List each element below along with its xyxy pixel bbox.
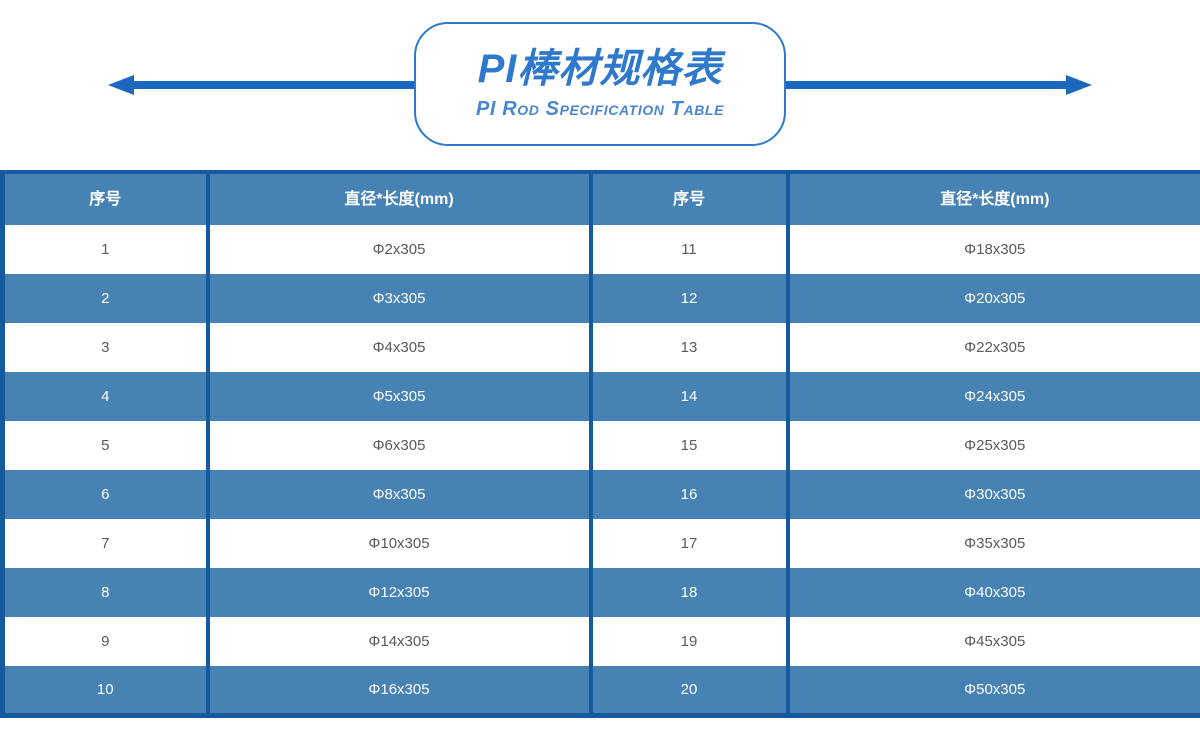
cell-no-right: 14 bbox=[591, 372, 788, 421]
table-row: 4Φ5x30514Φ24x305 bbox=[3, 372, 1200, 421]
cell-spec-left: Φ8x305 bbox=[208, 470, 591, 519]
table-row: 3Φ4x30513Φ22x305 bbox=[3, 323, 1200, 372]
cell-spec-right: Φ50x305 bbox=[788, 666, 1200, 715]
cell-spec-right: Φ35x305 bbox=[788, 519, 1200, 568]
column-header-no-right: 序号 bbox=[591, 172, 788, 225]
table-row: 1Φ2x30511Φ18x305 bbox=[3, 225, 1200, 274]
cell-no-left: 1 bbox=[3, 225, 208, 274]
spec-sheet-page: PI棒材规格表 PI Rod Specification Table 序号 直径… bbox=[0, 0, 1200, 737]
cell-spec-right: Φ30x305 bbox=[788, 470, 1200, 519]
table-row: 8Φ12x30518Φ40x305 bbox=[3, 568, 1200, 617]
table-header-row: 序号 直径*长度(mm) 序号 直径*长度(mm) bbox=[3, 172, 1200, 225]
arrow-right-icon bbox=[784, 75, 1092, 95]
column-header-spec-left: 直径*长度(mm) bbox=[208, 172, 591, 225]
table-row: 6Φ8x30516Φ30x305 bbox=[3, 470, 1200, 519]
cell-spec-left: Φ3x305 bbox=[208, 274, 591, 323]
cell-no-left: 9 bbox=[3, 617, 208, 666]
cell-spec-right: Φ18x305 bbox=[788, 225, 1200, 274]
cell-no-right: 17 bbox=[591, 519, 788, 568]
table-row: 7Φ10x30517Φ35x305 bbox=[3, 519, 1200, 568]
cell-spec-left: Φ16x305 bbox=[208, 666, 591, 715]
cell-spec-left: Φ12x305 bbox=[208, 568, 591, 617]
cell-no-right: 15 bbox=[591, 421, 788, 470]
table-row: 5Φ6x30515Φ25x305 bbox=[3, 421, 1200, 470]
cell-no-left: 10 bbox=[3, 666, 208, 715]
cell-spec-left: Φ2x305 bbox=[208, 225, 591, 274]
cell-spec-right: Φ24x305 bbox=[788, 372, 1200, 421]
table-row: 9Φ14x30519Φ45x305 bbox=[3, 617, 1200, 666]
cell-no-left: 8 bbox=[3, 568, 208, 617]
cell-spec-right: Φ45x305 bbox=[788, 617, 1200, 666]
arrow-left-icon bbox=[108, 75, 416, 95]
cell-spec-right: Φ22x305 bbox=[788, 323, 1200, 372]
cell-spec-left: Φ6x305 bbox=[208, 421, 591, 470]
cell-spec-right: Φ40x305 bbox=[788, 568, 1200, 617]
cell-no-left: 2 bbox=[3, 274, 208, 323]
header-zone: PI棒材规格表 PI Rod Specification Table bbox=[0, 0, 1200, 168]
cell-no-left: 7 bbox=[3, 519, 208, 568]
cell-no-right: 19 bbox=[591, 617, 788, 666]
table-row: 10Φ16x30520Φ50x305 bbox=[3, 666, 1200, 715]
column-header-no-left: 序号 bbox=[3, 172, 208, 225]
cell-no-left: 3 bbox=[3, 323, 208, 372]
cell-spec-right: Φ25x305 bbox=[788, 421, 1200, 470]
page-title: PI棒材规格表 bbox=[478, 47, 723, 92]
cell-spec-left: Φ5x305 bbox=[208, 372, 591, 421]
cell-no-right: 11 bbox=[591, 225, 788, 274]
cell-spec-left: Φ14x305 bbox=[208, 617, 591, 666]
table-row: 2Φ3x30512Φ20x305 bbox=[3, 274, 1200, 323]
cell-spec-left: Φ4x305 bbox=[208, 323, 591, 372]
title-banner: PI棒材规格表 PI Rod Specification Table bbox=[414, 22, 786, 146]
table-body: 1Φ2x30511Φ18x3052Φ3x30512Φ20x3053Φ4x3051… bbox=[3, 225, 1200, 715]
cell-no-left: 6 bbox=[3, 470, 208, 519]
cell-spec-left: Φ10x305 bbox=[208, 519, 591, 568]
cell-no-right: 12 bbox=[591, 274, 788, 323]
cell-no-right: 20 bbox=[591, 666, 788, 715]
cell-no-right: 18 bbox=[591, 568, 788, 617]
cell-no-right: 16 bbox=[591, 470, 788, 519]
specification-table: 序号 直径*长度(mm) 序号 直径*长度(mm) 1Φ2x30511Φ18x3… bbox=[0, 170, 1200, 718]
cell-no-left: 5 bbox=[3, 421, 208, 470]
page-subtitle: PI Rod Specification Table bbox=[476, 98, 724, 121]
cell-spec-right: Φ20x305 bbox=[788, 274, 1200, 323]
cell-no-right: 13 bbox=[591, 323, 788, 372]
column-header-spec-right: 直径*长度(mm) bbox=[788, 172, 1200, 225]
cell-no-left: 4 bbox=[3, 372, 208, 421]
table-header: 序号 直径*长度(mm) 序号 直径*长度(mm) bbox=[3, 172, 1200, 225]
